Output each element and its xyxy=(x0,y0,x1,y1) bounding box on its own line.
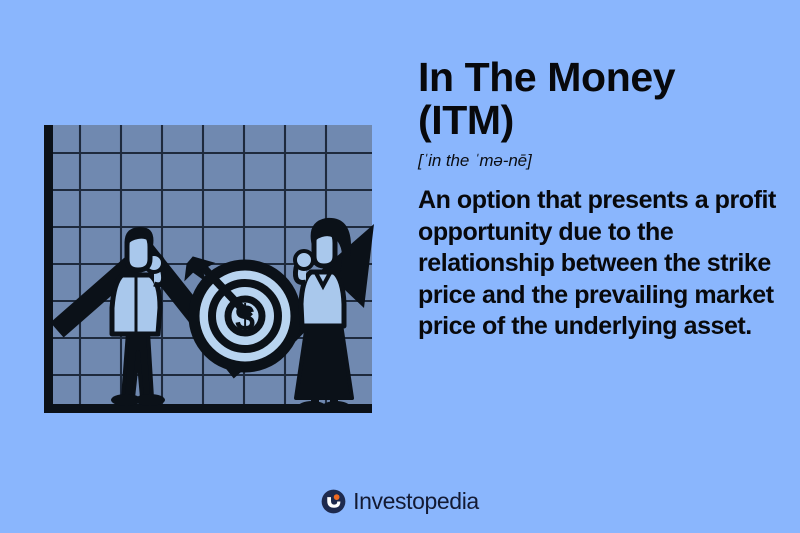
term-text-column: In The Money(ITM) [ˈin the ˈmə-nē] An op… xyxy=(418,56,778,343)
term-title-line-1: In The Money xyxy=(418,54,675,100)
brand-wordmark: Investopedia xyxy=(353,490,479,513)
definition-card: $ xyxy=(0,0,800,533)
illustration-graphic: $ xyxy=(30,112,380,422)
term-title-line-2: (ITM) xyxy=(418,97,514,143)
page-title: In The Money(ITM) xyxy=(418,56,778,141)
pronunciation-text: [ˈin the ˈmə-nē] xyxy=(418,151,778,171)
investopedia-logo-icon xyxy=(321,489,346,514)
brand-footer: Investopedia xyxy=(0,489,800,514)
definition-text: An option that presents a profit opportu… xyxy=(418,185,778,343)
